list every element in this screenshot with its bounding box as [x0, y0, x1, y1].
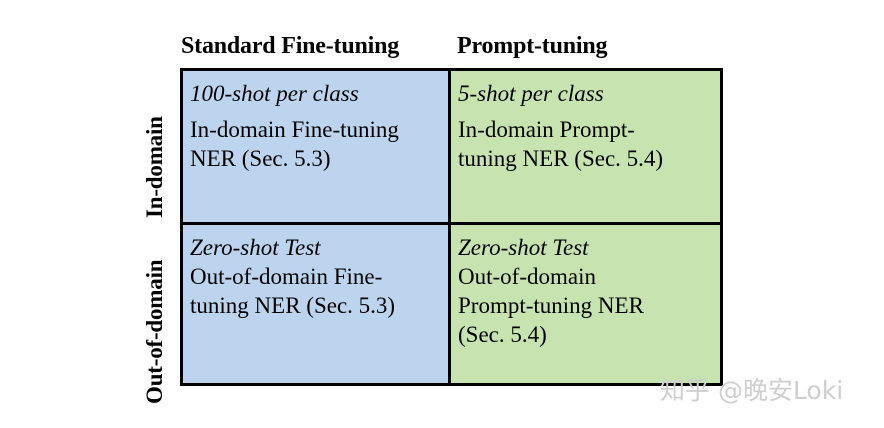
- cell-description: Out-of-domain Prompt-tuning NER (Sec. 5.…: [458, 262, 714, 349]
- matrix-grid: 100-shot per class In-domain Fine-tuning…: [180, 68, 723, 386]
- zhihu-watermark: 知乎 @晚安Loki: [660, 377, 843, 405]
- cell-description: In-domain Fine-tuning NER (Sec. 5.3): [190, 115, 442, 173]
- row-label-out-of-domain: Out-of-domain: [143, 260, 166, 404]
- matrix-cell-in-domain-prompt-tuning: 5-shot per class In-domain Prompt- tunin…: [451, 71, 720, 225]
- experiment-setting-matrix-figure: Standard Fine-tuning Prompt-tuning In-do…: [0, 0, 884, 428]
- column-header-prompt-tuning: Prompt-tuning: [457, 33, 607, 59]
- matrix-cell-out-of-domain-fine-tuning: Zero-shot Test Out-of-domain Fine- tunin…: [183, 225, 451, 383]
- row-label-in-domain: In-domain: [143, 116, 166, 218]
- cell-setting-label: Zero-shot Test: [458, 234, 714, 262]
- cell-setting-label: Zero-shot Test: [190, 234, 442, 262]
- cell-description: In-domain Prompt- tuning NER (Sec. 5.4): [458, 115, 714, 173]
- cell-setting-label: 5-shot per class: [458, 80, 714, 108]
- column-header-standard-fine-tuning: Standard Fine-tuning: [181, 33, 399, 59]
- matrix-cell-in-domain-fine-tuning: 100-shot per class In-domain Fine-tuning…: [183, 71, 451, 225]
- cell-setting-label: 100-shot per class: [190, 80, 442, 108]
- matrix-cell-out-of-domain-prompt-tuning: Zero-shot Test Out-of-domain Prompt-tuni…: [451, 225, 720, 383]
- cell-description: Out-of-domain Fine- tuning NER (Sec. 5.3…: [190, 262, 442, 320]
